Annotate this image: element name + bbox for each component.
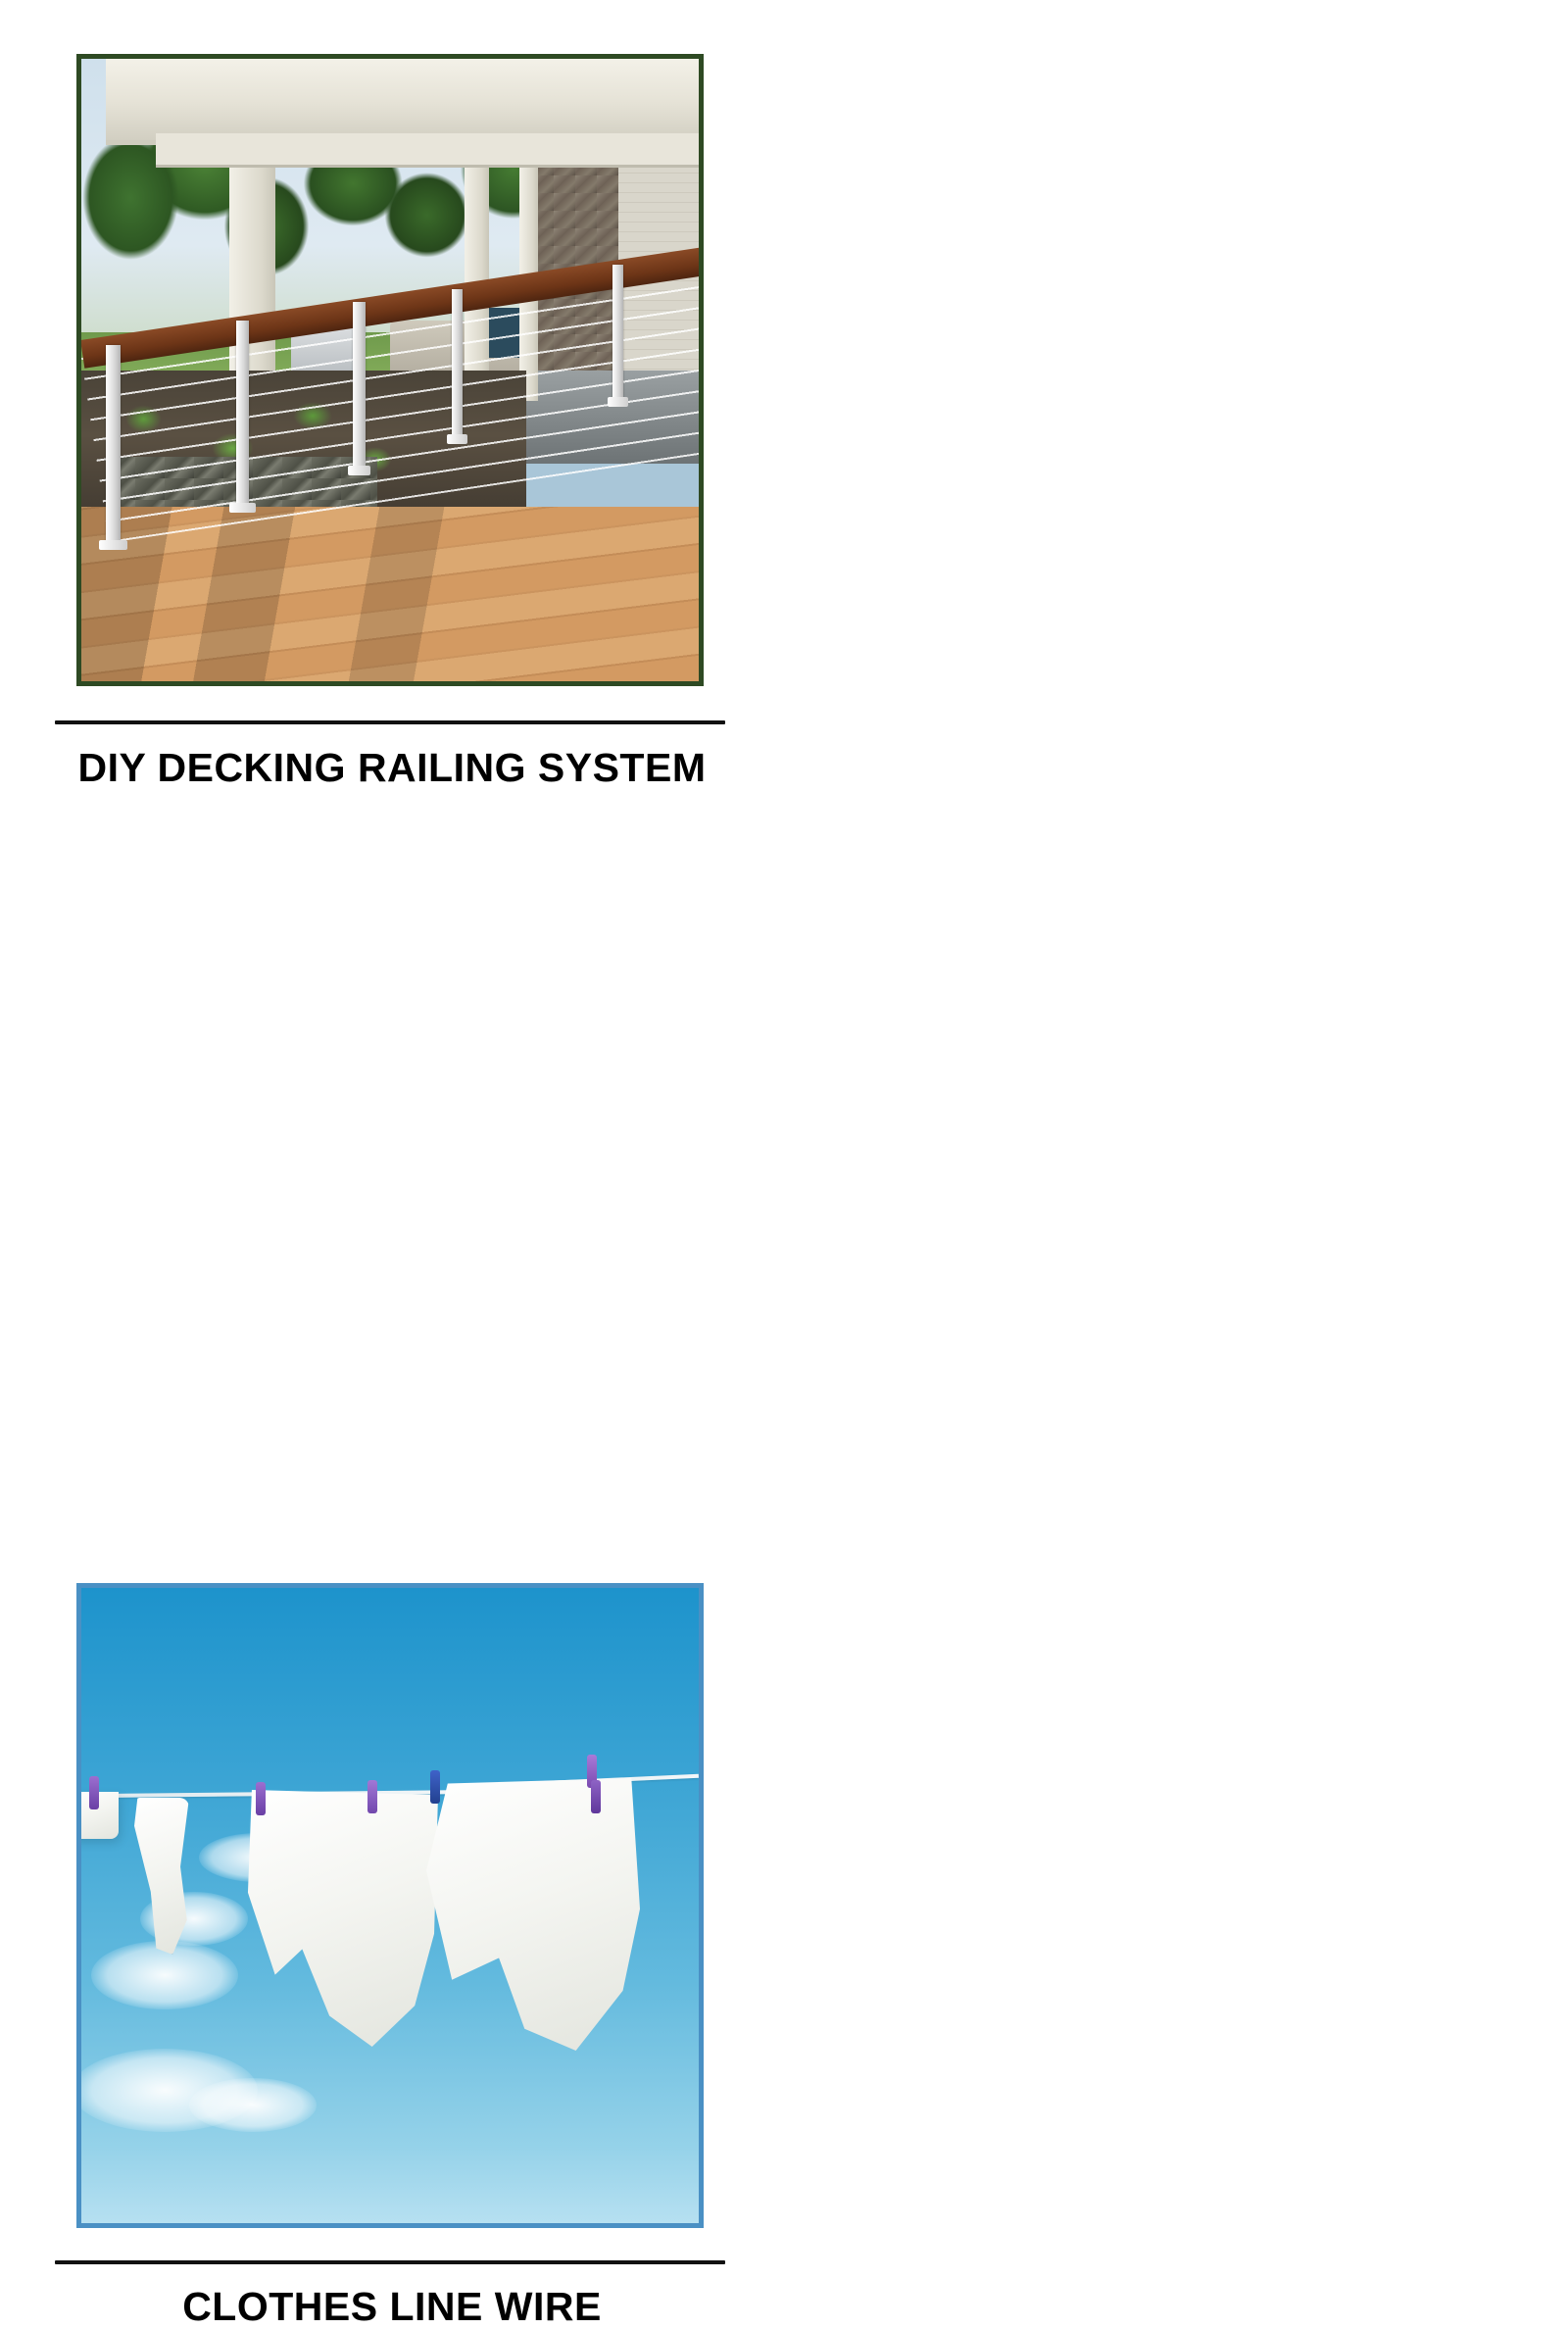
caption-clothes-line-wire: CLOTHES LINE WIRE: [0, 2287, 784, 2327]
deck-railing-post-5: [612, 265, 623, 402]
caption-diy-decking-railing-system: DIY DECKING RAILING SYSTEM: [0, 748, 784, 788]
clothespin-4: [430, 1770, 440, 1804]
caption-divider-diy-decking-railing-system: [55, 720, 725, 724]
grid-cell-clothes-line-wire[interactable]: CLOTHES LINE WIRE: [0, 784, 784, 1568]
deck-railing-post-1: [106, 345, 121, 544]
image-grid: DIY DECKING RAILING SYSTEM: [0, 0, 1568, 1568]
clothespin-1: [89, 1776, 99, 1809]
deck-railing-post-2: [236, 321, 250, 508]
clothespin-2: [256, 1782, 266, 1815]
deck-post-base-2: [229, 503, 255, 513]
grid-cell-outdoor-string-lights[interactable]: OUTDOOR STRING LIGHTS: [784, 0, 1568, 784]
cloud-4: [189, 2078, 317, 2132]
deck-porch-beam: [156, 133, 699, 168]
caption-divider-clothes-line-wire: [55, 2260, 725, 2264]
clothespin-6: [591, 1780, 601, 1813]
clothespin-3: [367, 1780, 377, 1813]
deck-post-base-1: [99, 540, 127, 550]
deck-floor-shadows: [81, 507, 699, 681]
grid-cell-diy-decking-railing-system[interactable]: DIY DECKING RAILING SYSTEM: [0, 0, 784, 784]
deck-post-base-5: [608, 397, 629, 407]
deck-railing-post-4: [452, 289, 463, 438]
deck-photo-content: [81, 59, 699, 681]
grid-cell-balustrades[interactable]: BALUSTRADES: [784, 784, 1568, 1568]
image-clothes-line-wire[interactable]: [76, 1583, 704, 2228]
deck-post-base-3: [348, 466, 371, 475]
deck-post-base-4: [447, 434, 468, 444]
deck-porch-roof: [106, 59, 699, 145]
deck-railing-post-3: [353, 302, 366, 470]
image-diy-decking-railing-system[interactable]: [76, 54, 704, 686]
